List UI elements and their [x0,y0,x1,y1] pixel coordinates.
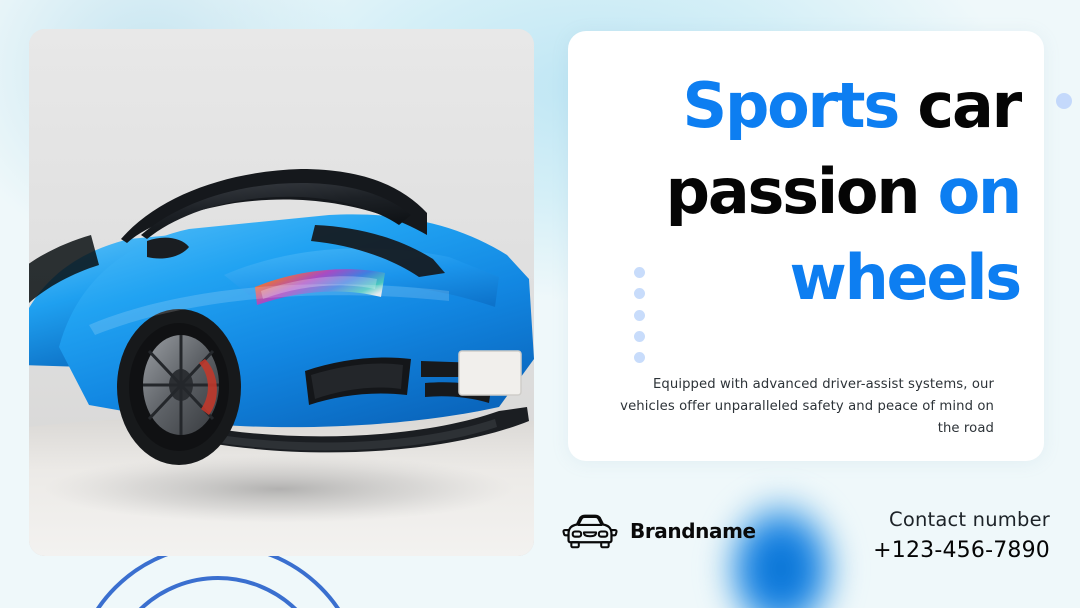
decoration-dot [634,352,645,363]
page-title: Sports carpassion onwheels [592,63,1020,321]
car-front-icon [562,512,618,550]
brand-name: Brandname [630,519,756,543]
dot-column-decoration [634,267,646,363]
brand-logo[interactable]: Brandname [562,512,756,550]
decoration-dot [634,288,645,299]
headline-card: Sports carpassion onwheels Equipped with… [568,31,1044,461]
page-title-run-1-1: Sports [683,69,899,142]
page-title-line-1: Sports car [592,63,1020,149]
decoration-dot [634,331,645,342]
page-title-run-2-2: on [938,155,1020,228]
poster-canvas: Sports carpassion onwheels Equipped with… [0,0,1080,608]
decoration-dot [634,310,645,321]
accent-dot-right [1056,93,1072,109]
page-title-line-3: wheels [592,235,1020,321]
page-title-run-2-1: passion [666,155,938,228]
page-title-line-2: passion on [592,149,1020,235]
contact-number[interactable]: +123-456-7890 [873,535,1050,567]
contact-label: Contact number [873,505,1050,535]
page-title-run-1-2: car [898,69,1020,142]
decoration-dot [634,267,645,278]
hero-car-photo [29,29,534,556]
body-copy: Equipped with advanced driver-assist sys… [620,374,994,440]
contact-block: Contact number +123-456-7890 [873,505,1050,567]
page-title-run-3-1: wheels [790,241,1020,314]
